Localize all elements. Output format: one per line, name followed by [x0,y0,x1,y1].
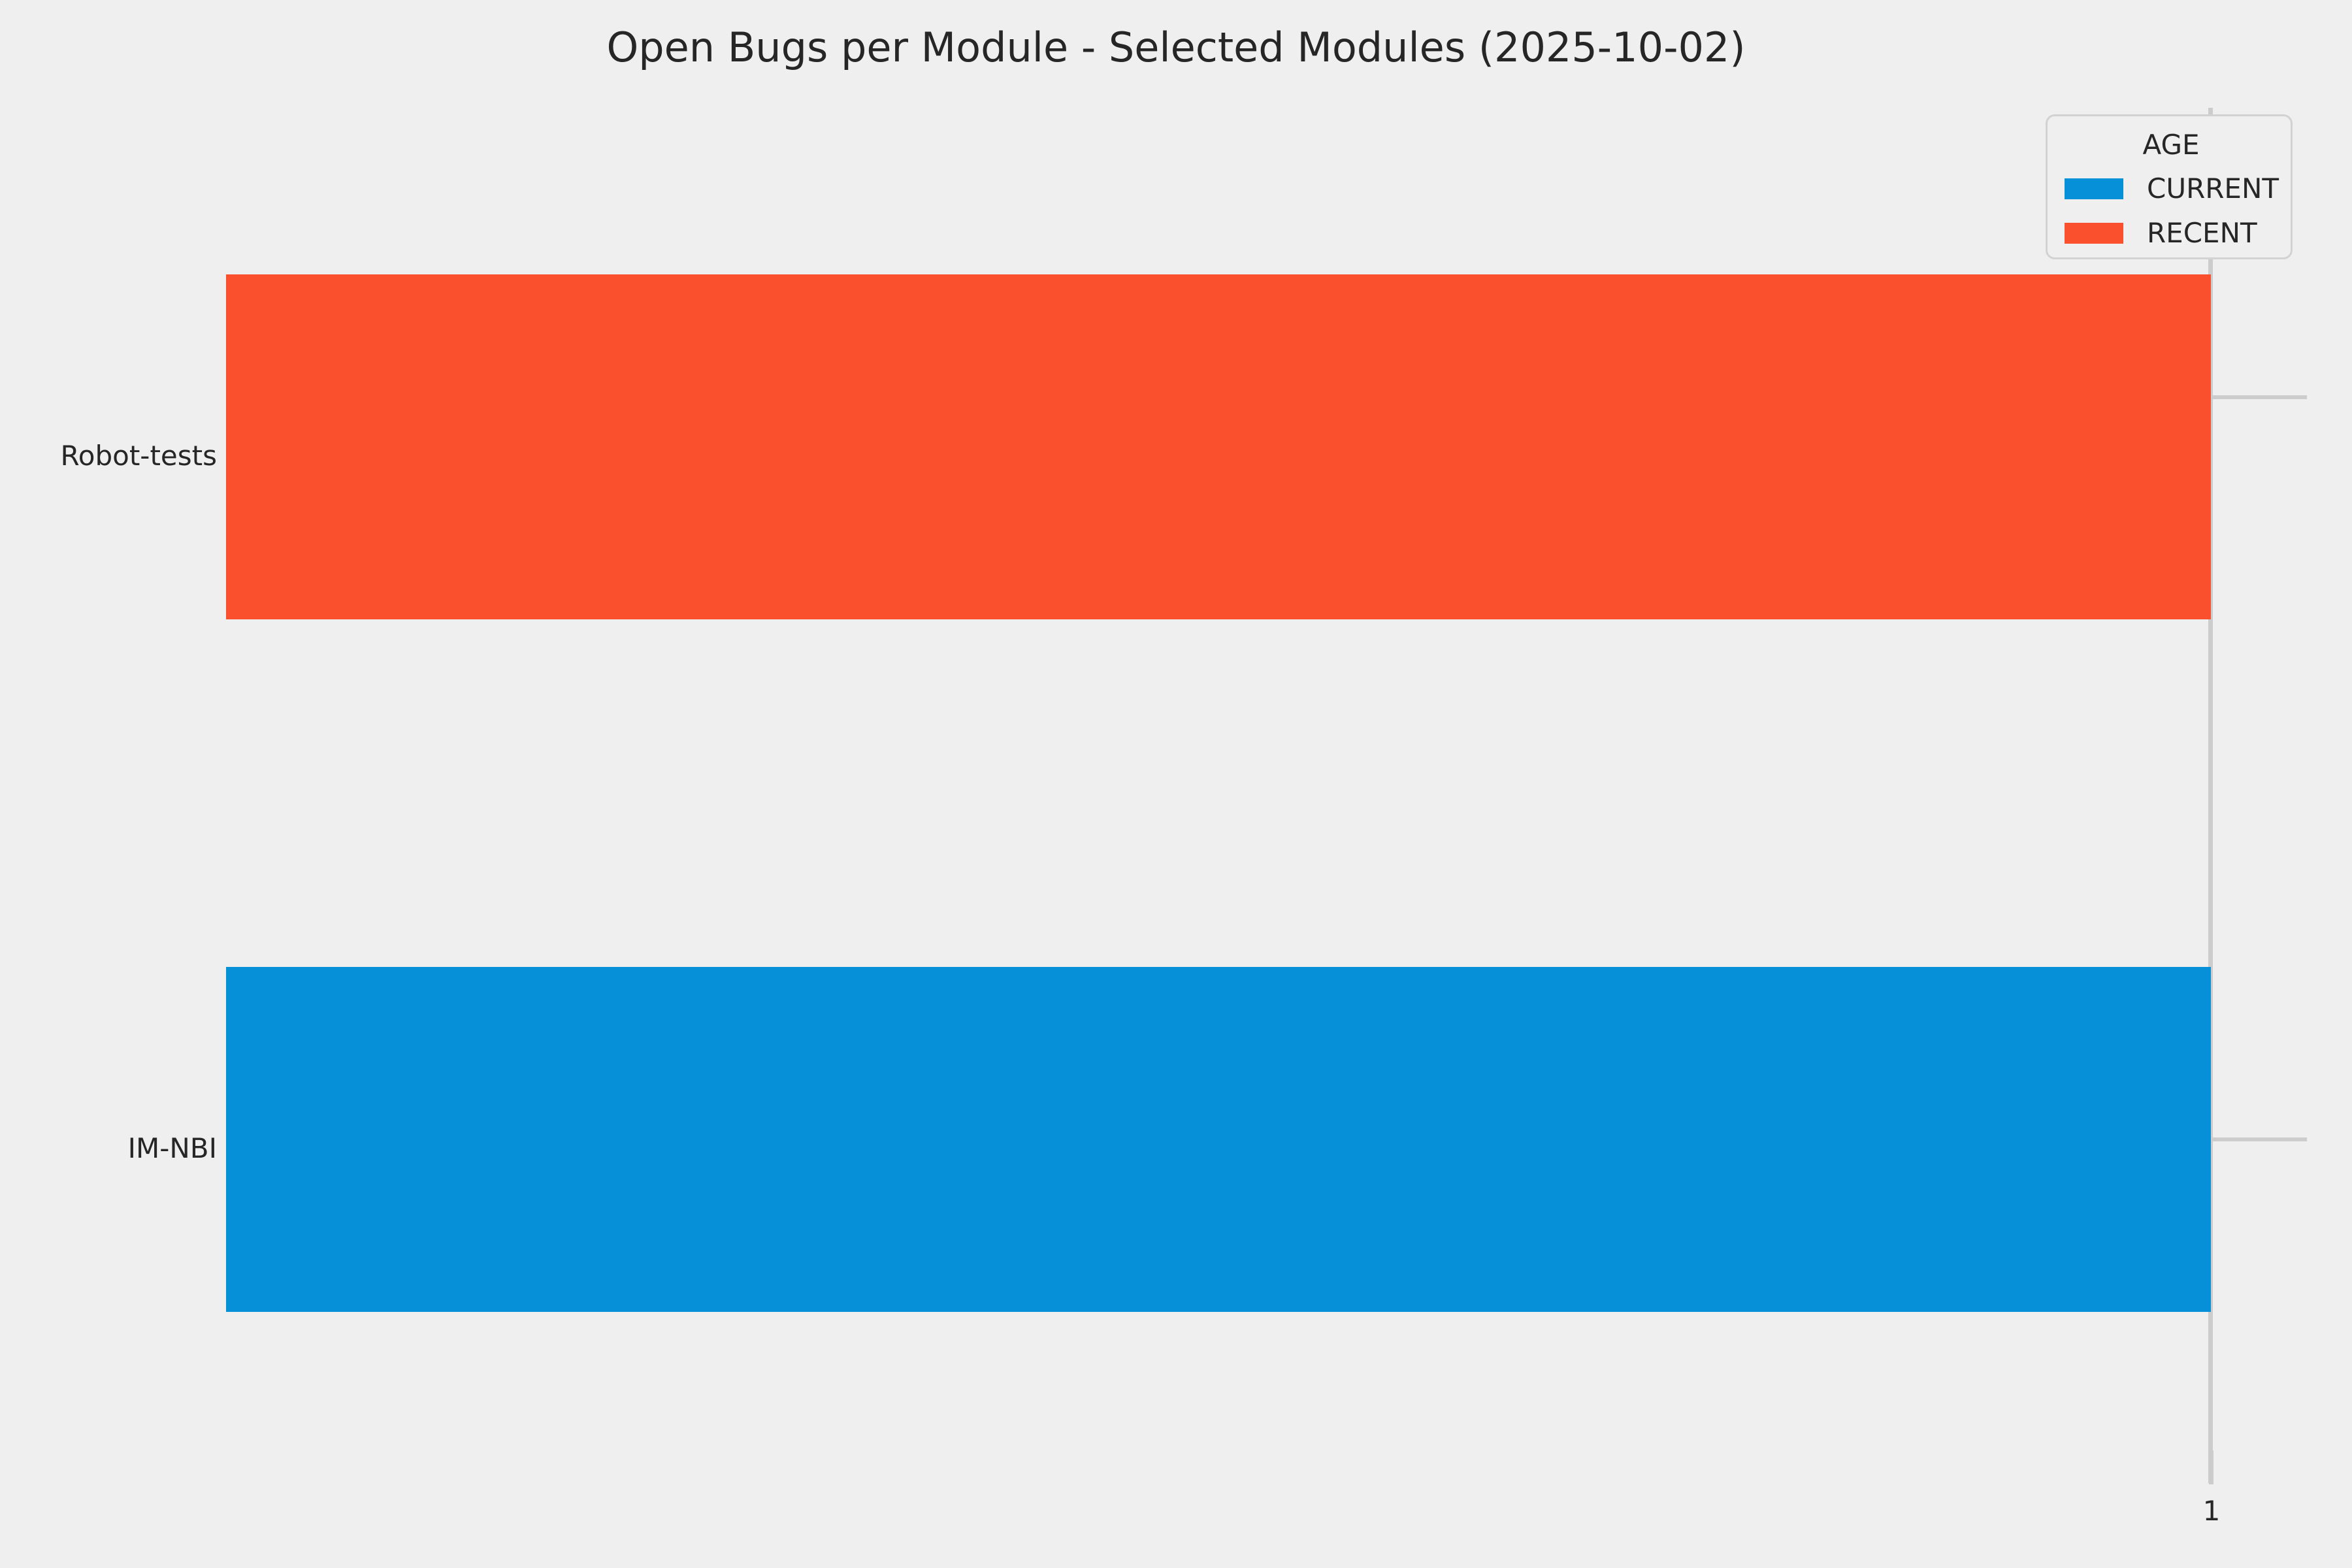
y-axis-tick-label-robot-tests: Robot-tests [8,440,217,472]
y-axis-tick-mark-im-nbi [2213,1137,2307,1141]
legend-swatch-recent [2065,223,2123,244]
legend-item-current[interactable]: CURRENT [2065,172,2279,205]
legend-label-current: CURRENT [2147,174,2279,204]
y-axis-tick-label-im-nbi: IM-NBI [8,1133,217,1164]
x-axis-tick-mark-1 [2209,1450,2213,1484]
legend-swatch-current [2065,178,2123,199]
bar-im-nbi[interactable] [226,967,2211,1312]
plot-area [226,108,2212,1483]
legend-label-recent: RECENT [2147,218,2257,248]
y-axis-tick-mark-robot-tests [2213,395,2307,399]
legend-item-recent[interactable]: RECENT [2065,217,2257,250]
bar-robot-tests[interactable] [226,274,2211,619]
legend-title: AGE [2048,129,2295,161]
legend: AGE CURRENT RECENT [2046,114,2293,259]
chart-figure: Open Bugs per Module - Selected Modules … [0,0,2352,1568]
chart-title: Open Bugs per Module - Selected Modules … [0,25,2352,71]
x-axis-tick-label-1: 1 [2146,1495,2277,1527]
